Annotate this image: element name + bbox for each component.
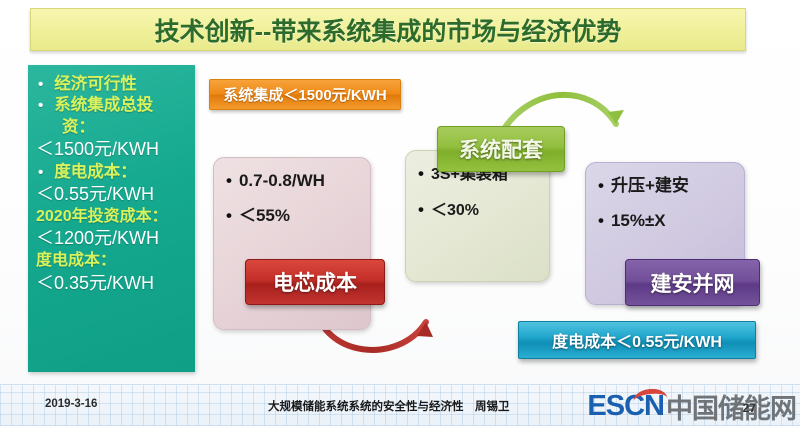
arrow-green-head [608, 110, 624, 124]
sidebar-line-9: ＜0.35元/KWH [34, 272, 189, 295]
page-number: 27 [743, 401, 756, 415]
banner-electricity-cost: 度电成本＜0.55元/KWH [518, 321, 756, 359]
banner-electricity-cost-label: 度电成本＜0.55元/KWH [552, 328, 722, 352]
footer-date: 2019-3-16 [45, 398, 97, 410]
sidebar-line-0: 经济可行性 [34, 74, 189, 95]
banner-construction-grid: 建安并网 [625, 259, 760, 306]
construction-grid-item-0: 升压+建安 [598, 177, 734, 194]
sidebar-line-3: ＜1500元/KWH [34, 138, 189, 161]
slide-title-bar: 技术创新--带来系统集成的市场与经济优势 [30, 8, 746, 51]
construction-grid-item-1: 15%±X [598, 212, 734, 229]
sidebar-line-1: 系统集成总投 [34, 95, 189, 116]
sidebar-line-8: 度电成本： [34, 251, 189, 272]
escn-logo-text: ESCN [587, 390, 664, 423]
economics-sidebar: 经济可行性 系统集成总投 资： ＜1500元/KWH 度电成本： ＜0.55元/… [28, 65, 195, 372]
banner-system-support: 系统配套 [437, 126, 565, 172]
sidebar-line-4: 度电成本： [34, 162, 189, 183]
system-support-item-1: ＜30% [418, 201, 539, 219]
sidebar-line-7: ＜1200元/KWH [34, 227, 189, 250]
sidebar-line-5: ＜0.55元/KWH [34, 183, 189, 206]
banner-system-integration: 系统集成＜1500元/KWH [209, 79, 401, 110]
page-title: 技术创新--带来系统集成的市场与经济优势 [155, 12, 622, 48]
cell-cost-item-1: ＜55% [226, 207, 360, 224]
banner-cell-cost: 电芯成本 [245, 259, 385, 305]
cell-cost-item-0: 0.7-0.8/WH [226, 172, 360, 189]
banner-cell-cost-label: 电芯成本 [273, 267, 357, 297]
arrow-red-head [417, 322, 433, 337]
sidebar-line-2: 资： [34, 117, 189, 138]
escn-logo: ESCN 中国储能网 [587, 390, 796, 422]
slide-footer: 2019-3-16 大规模储能系统系统的安全性与经济性 周锡卫 ESCN 中国储… [0, 384, 800, 426]
escn-logo-chinese: 中国储能网 [666, 387, 796, 426]
slide-canvas: 技术创新--带来系统集成的市场与经济优势 经济可行性 系统集成总投 资： ＜15… [0, 0, 800, 426]
sidebar-line-6: 2020年投资成本： [34, 207, 189, 228]
footer-subtitle: 大规模储能系统系统的安全性与经济性 周锡卫 [268, 398, 510, 414]
banner-system-integration-label: 系统集成＜1500元/KWH [223, 84, 386, 105]
banner-construction-grid-label: 建安并网 [651, 268, 735, 298]
banner-system-support-label: 系统配套 [459, 134, 543, 164]
